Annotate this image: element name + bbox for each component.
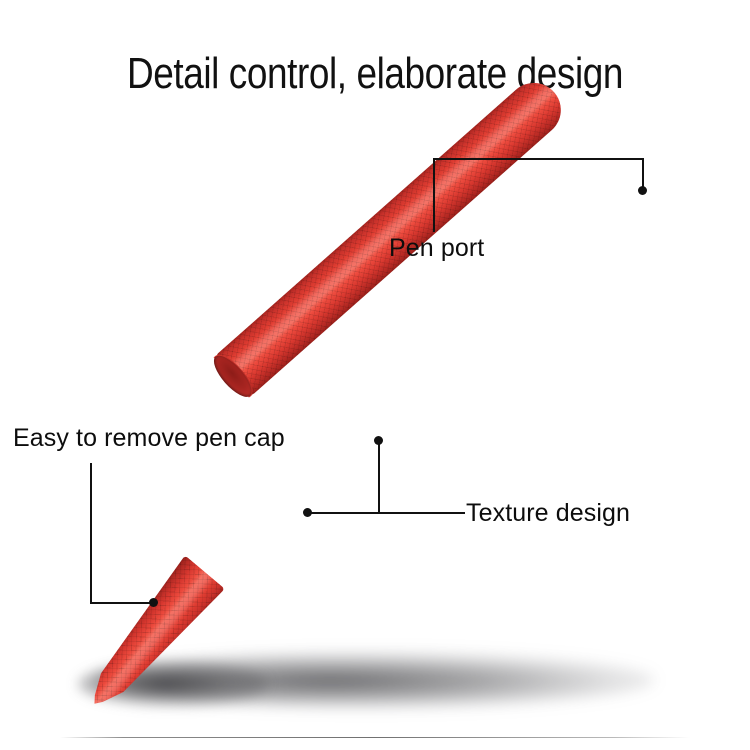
texture-design-leader-vertical [378, 442, 380, 513]
pen-port-anchor-dot [638, 186, 647, 195]
texture-design-anchor-dot-upper [374, 436, 383, 445]
texture-design-leader-horizontal [311, 512, 465, 514]
pen-port-leader-horizontal [433, 158, 644, 160]
easy-remove-anchor-dot [149, 598, 158, 607]
callout-label-texture-design: Texture design [466, 498, 630, 528]
callout-label-easy-remove-pen-cap: Easy to remove pen cap [13, 423, 285, 453]
callout-label-pen-port: Pen port [389, 233, 484, 263]
product-feature-image: Detail control, elaborate design [0, 0, 750, 750]
easy-remove-leader-vertical [90, 463, 92, 604]
texture-design-anchor-dot-lower [303, 508, 312, 517]
easy-remove-leader-horizontal [90, 602, 155, 604]
pen-port-leader-vertical-left [433, 158, 435, 232]
bottom-divider [60, 737, 690, 738]
product-photo [0, 0, 750, 750]
